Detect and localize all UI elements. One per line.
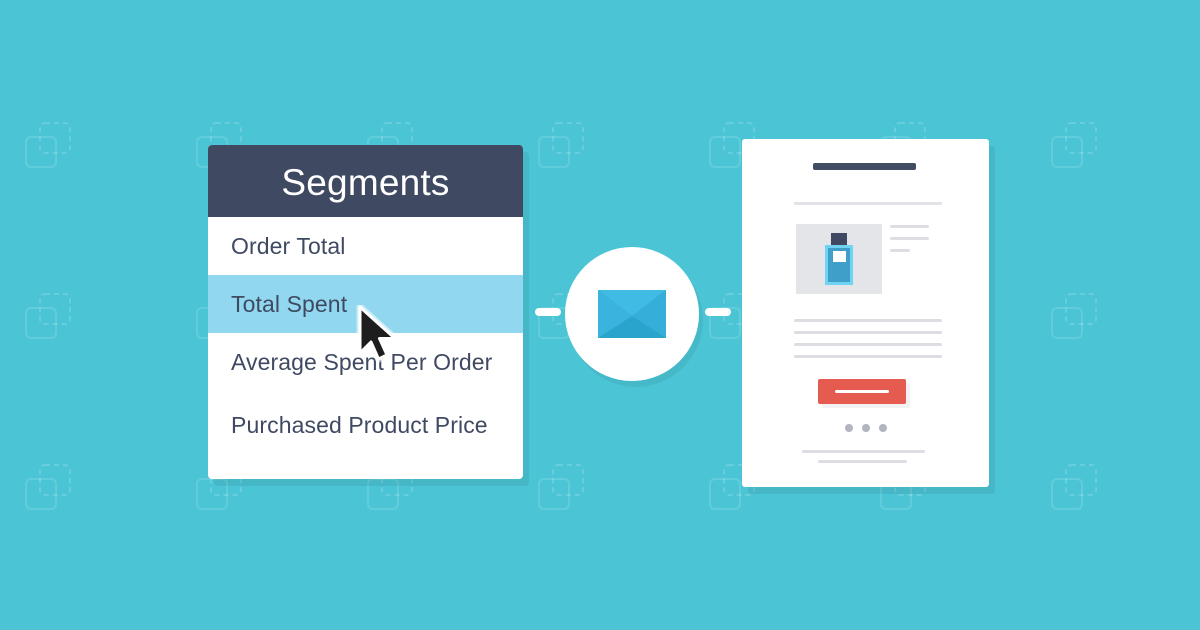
- body-text-line: [794, 319, 942, 322]
- list-item-purchased-product-price[interactable]: Purchased Product Price: [208, 391, 523, 459]
- cta-button[interactable]: [818, 379, 906, 404]
- connector-dash-right: [705, 308, 731, 316]
- email-subheading-placeholder: [794, 202, 942, 205]
- body-text-line: [794, 331, 942, 334]
- product-image-frame: [796, 224, 882, 294]
- body-text-line: [794, 343, 942, 346]
- product-detail-line: [890, 237, 929, 240]
- list-item-total-spent[interactable]: Total Spent: [208, 275, 523, 333]
- footer-line: [802, 450, 925, 453]
- bottle-label: [833, 251, 846, 262]
- bottle-inner: [828, 248, 850, 282]
- bottle-cap: [831, 233, 847, 245]
- social-dot[interactable]: [862, 424, 870, 432]
- list-item-order-total[interactable]: Order Total: [208, 217, 523, 275]
- page-title: Segments: [281, 162, 449, 201]
- social-dot[interactable]: [845, 424, 853, 432]
- connector-dash-left: [535, 308, 561, 316]
- social-dot[interactable]: [879, 424, 887, 432]
- body-text-line: [794, 355, 942, 358]
- segments-list: Order Total Total Spent Average Spent Pe…: [208, 217, 523, 459]
- email-badge[interactable]: [565, 247, 699, 381]
- envelope-icon: [598, 290, 666, 338]
- social-dots: [742, 424, 989, 432]
- segments-panel-header: Segments: [208, 145, 523, 217]
- email-heading-placeholder: [813, 163, 916, 170]
- bottle-product-icon: [825, 233, 853, 285]
- cta-button-label-placeholder: [835, 390, 889, 393]
- product-detail-line: [890, 225, 929, 228]
- email-preview-card: [742, 139, 989, 487]
- product-detail-line: [890, 249, 910, 252]
- bottle-body: [825, 245, 853, 285]
- footer-line: [818, 460, 907, 463]
- illustration-canvas: Segments Order Total Total Spent Average…: [0, 0, 1200, 630]
- segments-panel: Segments Order Total Total Spent Average…: [208, 145, 523, 479]
- list-item-average-spent-per-order[interactable]: Average Spent Per Order: [208, 333, 523, 391]
